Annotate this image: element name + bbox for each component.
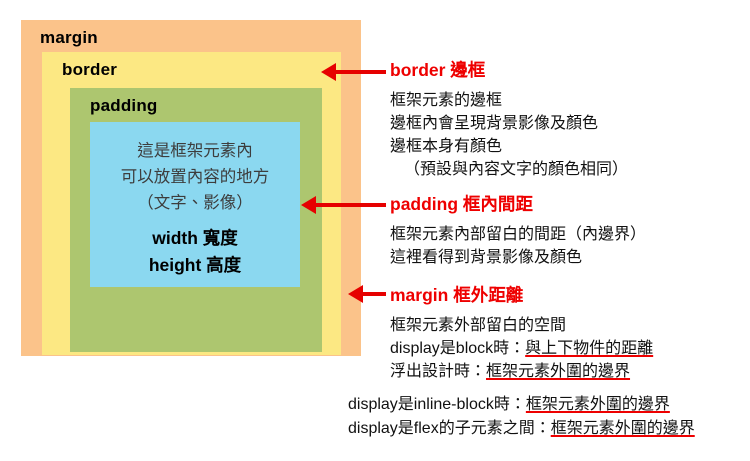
note-padding-line-1: 框架元素內部留白的間距（內邊界） — [390, 223, 646, 246]
note-margin: margin 框外距離 框架元素外部留白的空間 display是block時：與… — [390, 283, 653, 383]
note-inline-block-underlined: 框架元素外圍的邊界 — [526, 396, 670, 413]
note-display-variants: display是inline-block時：框架元素外圍的邊界 display是… — [348, 393, 695, 441]
border-box: border padding 這是框架元素內 可以放置內容的地方 （文字、影像）… — [42, 52, 341, 355]
content-width-label: width 寬度 — [152, 225, 238, 252]
margin-box: margin border padding 這是框架元素內 可以放置內容的地方 … — [21, 20, 361, 356]
content-box: 這是框架元素內 可以放置內容的地方 （文字、影像） width 寬度 heigh… — [90, 122, 300, 287]
content-height-label: height 高度 — [149, 252, 241, 279]
margin-box-label: margin — [40, 28, 98, 48]
content-text-line-3: （文字、影像） — [137, 190, 253, 216]
border-box-label: border — [62, 60, 117, 80]
note-inline-block-line: display是inline-block時：框架元素外圍的邊界 — [348, 393, 695, 417]
content-text-line-1: 這是框架元素內 — [137, 138, 253, 164]
note-inline-block-prefix: display是inline-block時： — [348, 396, 526, 413]
note-flex-line: display是flex的子元素之間：框架元素外圍的邊界 — [348, 417, 695, 441]
note-margin-line-2: display是block時：與上下物件的距離 — [390, 337, 653, 360]
note-border: border 邊框 框架元素的邊框 邊框內會呈現背景影像及顏色 邊框本身有顏色 … — [390, 58, 628, 181]
note-border-title: border 邊框 — [390, 58, 628, 82]
note-padding: padding 框內間距 框架元素內部留白的間距（內邊界） 這裡看得到背景影像及… — [390, 192, 646, 269]
note-flex-prefix: display是flex的子元素之間： — [348, 420, 551, 437]
note-padding-title: padding 框內間距 — [390, 192, 646, 216]
note-margin-title: margin 框外距離 — [390, 283, 653, 307]
note-margin-body: 框架元素外部留白的空間 display是block時：與上下物件的距離 浮出設計… — [390, 314, 653, 383]
note-margin-line-3-underlined: 框架元素外圍的邊界 — [486, 363, 630, 380]
padding-box: padding 這是框架元素內 可以放置內容的地方 （文字、影像） width … — [70, 88, 322, 352]
note-margin-line-2-prefix: display是block時： — [390, 340, 525, 357]
note-margin-line-1: 框架元素外部留白的空間 — [390, 314, 653, 337]
note-display-variants-body: display是inline-block時：框架元素外圍的邊界 display是… — [348, 393, 695, 441]
note-border-line-4: （預設與內容文字的顏色相同） — [390, 158, 628, 181]
note-padding-line-2: 這裡看得到背景影像及顏色 — [390, 246, 646, 269]
note-padding-body: 框架元素內部留白的間距（內邊界） 這裡看得到背景影像及顏色 — [390, 223, 646, 269]
note-margin-line-3: 浮出設計時：框架元素外圍的邊界 — [390, 360, 653, 383]
note-border-line-1: 框架元素的邊框 — [390, 89, 628, 112]
note-border-body: 框架元素的邊框 邊框內會呈現背景影像及顏色 邊框本身有顏色 （預設與內容文字的顏… — [390, 89, 628, 181]
note-flex-underlined: 框架元素外圍的邊界 — [551, 420, 695, 437]
arrow-to-padding-box — [314, 203, 386, 207]
note-border-line-3: 邊框本身有顏色 — [390, 135, 628, 158]
box-model-diagram: margin border padding 這是框架元素內 可以放置內容的地方 … — [0, 0, 750, 461]
padding-box-label: padding — [90, 96, 158, 116]
note-margin-line-2-underlined: 與上下物件的距離 — [525, 340, 653, 357]
arrow-to-border-box — [334, 70, 386, 74]
note-margin-line-3-prefix: 浮出設計時： — [390, 363, 486, 380]
arrow-to-margin-box — [361, 292, 386, 296]
content-text-line-2: 可以放置內容的地方 — [121, 164, 270, 190]
note-border-line-2: 邊框內會呈現背景影像及顏色 — [390, 112, 628, 135]
